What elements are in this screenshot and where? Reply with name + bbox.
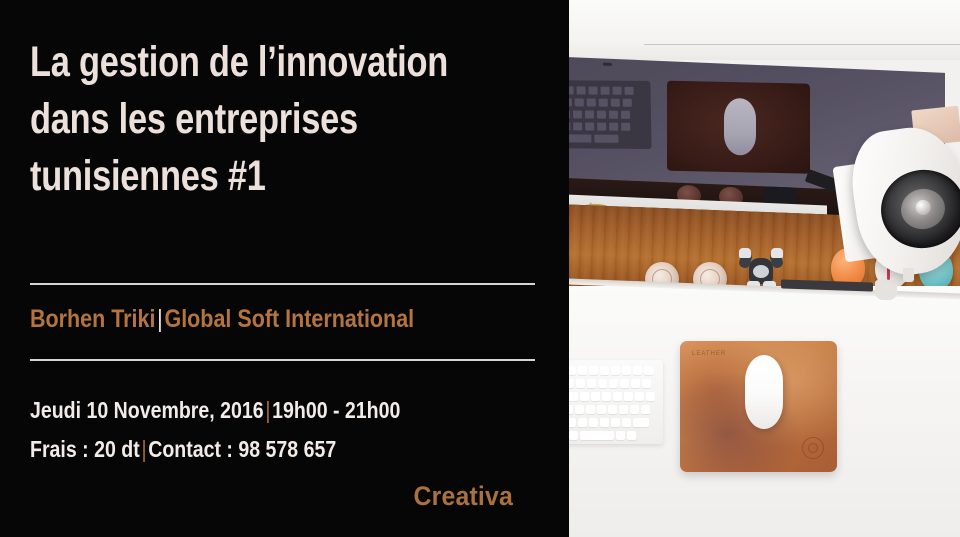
speaker-dome <box>915 199 932 216</box>
speaker-driver <box>898 185 948 232</box>
wall-seam <box>644 44 960 45</box>
event-time: 19h00 - 21h00 <box>272 397 400 423</box>
speaker-stem <box>903 268 914 282</box>
event-date: Jeudi 10 Novembre, 2016 <box>30 397 264 423</box>
speaker-separator: | <box>155 305 164 333</box>
speaker-name: Borhen Triki <box>30 305 155 333</box>
desk-photograph: LEATHER <box>569 0 960 537</box>
event-datetime: Jeudi 10 Novembre, 2016|19h00 - 21h00 <box>30 397 400 424</box>
title-line-3: tunisiennes #1 <box>30 148 446 205</box>
title-line-2: dans les entreprises <box>30 91 446 148</box>
desk-speaker <box>855 128 960 274</box>
event-price-contact: Frais : 20 dt|Contact : 98 578 657 <box>30 436 336 463</box>
speaker-organization: Global Soft International <box>164 305 414 333</box>
event-poster: La gestion de l’innovation dans les entr… <box>0 0 960 537</box>
speaker-credit: Borhen Triki|Global Soft International <box>30 305 414 334</box>
screen-reflection-mouse <box>724 98 756 156</box>
back-wall <box>569 0 960 60</box>
page-title: La gestion de l’innovation dans les entr… <box>30 34 550 205</box>
price-separator: | <box>140 436 148 462</box>
magic-keyboard <box>569 360 663 444</box>
divider-bottom <box>30 359 535 361</box>
brand-logo: Creativa <box>41 481 513 512</box>
divider-top <box>30 283 535 285</box>
desk-cup <box>875 280 897 300</box>
event-price: Frais : 20 dt <box>30 436 140 462</box>
datetime-separator: | <box>264 397 272 423</box>
event-contact: Contact : 98 578 657 <box>148 436 336 462</box>
mousepad-logo: LEATHER <box>692 351 726 357</box>
title-line-1: La gestion de l’innovation <box>30 34 446 91</box>
text-panel: La gestion de l’innovation dans les entr… <box>0 0 569 537</box>
webcam-icon <box>603 63 612 66</box>
mousepad-stamp <box>802 437 824 459</box>
screen-reflection-keyboard <box>569 80 652 149</box>
magic-mouse <box>745 355 783 429</box>
